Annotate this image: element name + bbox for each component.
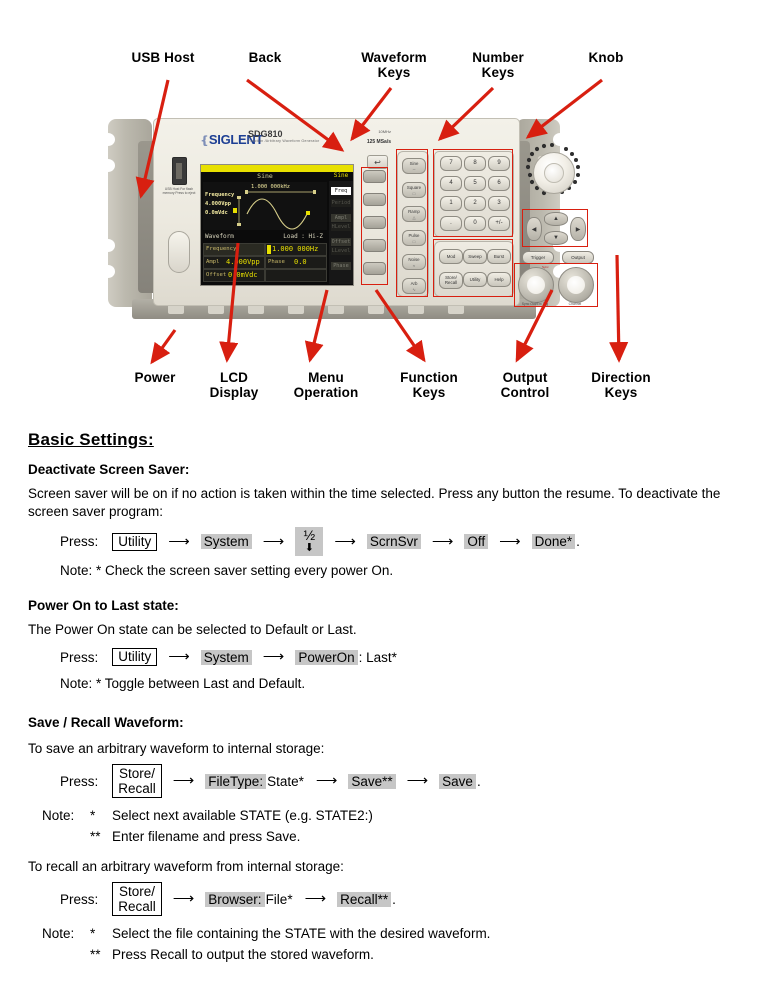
press-label-recall: Press: — [60, 892, 98, 907]
param-ampl-label: Ampl — [206, 259, 219, 265]
step-scrnsvr[interactable]: ScrnSvr — [367, 534, 421, 549]
usb-host-port[interactable] — [172, 157, 187, 185]
step-done[interactable]: Done* — [532, 534, 576, 549]
highlight-waveform-keys — [396, 149, 428, 297]
param-ampl-value: 4.000Vpp — [226, 258, 260, 266]
param-frequency-value: 1.000 000Hz — [272, 245, 318, 253]
step-arrow-icon: ⟶ — [263, 650, 285, 664]
param-offset-value: 0.0mVdc — [228, 271, 258, 279]
step-recall-double[interactable]: Recall** — [337, 892, 391, 907]
step-arrow-icon: ⟶ — [407, 774, 429, 788]
store-line2-r: Recall — [118, 899, 156, 914]
step-arrow-icon: ⟶ — [334, 535, 356, 549]
model-subtitle: Function /Arbitrary Waveform Generator — [248, 139, 319, 143]
note-screen-saver: Note: * Check the screen saver setting e… — [60, 562, 768, 580]
lcd-params-header: Waveform Load : Hi-Z — [203, 232, 327, 242]
press-sequence-power-on: Press: Utility ⟶ System ⟶ PowerOn : Last… — [60, 645, 768, 669]
sample-rate: 125 MSa/s — [351, 139, 391, 145]
store-line2: Recall — [118, 781, 156, 796]
half-page-label: ½ — [303, 527, 315, 543]
highlight-function-keys — [433, 239, 513, 297]
callout-direction-keys: Direction Keys — [574, 370, 668, 400]
softkey-ampl[interactable]: Ampl — [331, 214, 351, 222]
down-arrow-icon: ⬇ — [295, 543, 323, 554]
note-recall-1: Note:*Select the file containing the STA… — [42, 924, 768, 943]
param-cell-empty — [265, 269, 327, 282]
instrument-diagram: USB Host Back Waveform Keys Number Keys … — [0, 0, 768, 430]
lcd-banner-right — [329, 165, 353, 172]
step-arrow-icon: ⟶ — [316, 774, 338, 788]
press-sequence-save: Press: Store/ Recall ⟶ FileType: State* … — [60, 764, 768, 798]
highlight-number-keys — [433, 149, 513, 237]
step-filetype-suffix: State* — [266, 774, 305, 789]
store-line1-r: Store/ — [118, 884, 156, 899]
model-number: SDG810 — [248, 129, 283, 139]
bandwidth-label: 10MHz 125 MSa/s — [351, 129, 391, 145]
lcd-banner — [201, 165, 329, 172]
param-offset-label: Offset — [206, 272, 226, 278]
lcd-display: Sine Sine Frequency 4.000Vpp 0.0mVdc 1.0… — [200, 164, 354, 286]
param-phase-value: 0.0 — [294, 258, 307, 266]
section-title-power-on: Power On to Last state: — [28, 598, 768, 613]
step-filetype[interactable]: FileType: — [205, 774, 266, 789]
callout-knob: Knob — [558, 50, 654, 65]
step-arrow-icon: ⟶ — [263, 535, 285, 549]
callout-number-keys: Number Keys — [448, 50, 548, 80]
front-panel: USB Host For flash memory Press to eject… — [153, 118, 520, 306]
step-recall-suffix: . — [391, 892, 397, 907]
softkey-period[interactable]: Period — [331, 199, 351, 207]
power-button[interactable] — [168, 231, 190, 273]
step-save-suffix: . — [476, 774, 482, 789]
store-line1: Store/ — [118, 766, 156, 781]
step-poweron-suffix: : Last* — [358, 650, 398, 665]
press-sequence-recall: Press: Store/ Recall ⟶ Browser: File* ⟶ … — [60, 882, 768, 916]
step-browser-suffix: File* — [265, 892, 294, 907]
step-arrow-icon: ⟶ — [173, 892, 195, 906]
recall-intro: To recall an arbitrary waveform from int… — [28, 858, 742, 876]
softkey-freq[interactable]: Freq — [331, 187, 351, 195]
softkey-llevel[interactable]: LLevel — [331, 247, 351, 255]
step-save[interactable]: Save — [439, 774, 476, 789]
callout-lcd-display: LCD Display — [192, 370, 276, 400]
param-cell-phase: Phase 0.0 — [265, 256, 327, 269]
callout-power: Power — [110, 370, 200, 385]
note-save-star-2: ** — [90, 827, 112, 846]
step-save-double[interactable]: Save** — [348, 774, 395, 789]
step-done-suffix: . — [575, 534, 581, 549]
step-arrow-icon: ⟶ — [432, 535, 454, 549]
edit-cursor — [267, 245, 271, 254]
step-page-half[interactable]: ½ ⬇ — [295, 527, 323, 556]
step-system-1[interactable]: System — [201, 534, 252, 549]
step-arrow-icon: ⟶ — [499, 535, 521, 549]
section-paragraph-power-on: The Power On state can be selected to De… — [28, 621, 742, 639]
note-recall-text-2: Press Recall to output the stored wavefo… — [112, 947, 374, 962]
params-header-left: Waveform — [205, 233, 234, 240]
note-save-text-2: Enter filename and press Save. — [112, 829, 300, 844]
section-title-screen-saver: Deactivate Screen Saver: — [28, 462, 768, 477]
signal-generator-body: USB Host For flash memory Press to eject… — [108, 105, 560, 330]
lcd-waveform-graph: Frequency 4.000Vpp 0.0mVdc 1.000 000kHz — [203, 182, 327, 230]
highlight-output-control — [514, 263, 598, 307]
highlight-menu-keys — [361, 167, 388, 285]
section-title-save-recall: Save / Recall Waveform: — [28, 715, 768, 730]
document-body: Basic Settings: Deactivate Screen Saver:… — [0, 430, 768, 964]
step-store-recall-save[interactable]: Store/ Recall — [112, 764, 162, 798]
step-utility-1[interactable]: Utility — [112, 533, 157, 551]
step-utility-2[interactable]: Utility — [112, 648, 157, 666]
usb-host-port-label: USB Host For flash memory Press to eject — [162, 187, 196, 195]
page-title: Basic Settings: — [28, 430, 768, 450]
lcd-softkey-column: Freq Period Ampl HLevel Offset LLevel Ph… — [329, 181, 353, 284]
callout-output-control: Output Control — [480, 370, 570, 400]
step-arrow-icon: ⟶ — [168, 650, 190, 664]
lcd-title: Sine — [201, 172, 329, 181]
param-cell-frequency-value: 1.000 000Hz — [265, 243, 327, 256]
note-recall-star-2: ** — [90, 945, 112, 964]
save-intro: To save an arbitrary waveform to interna… — [28, 740, 742, 758]
note-recall-star: * — [90, 924, 112, 943]
note-recall-label: Note: — [42, 924, 90, 943]
step-system-2[interactable]: System — [201, 650, 252, 665]
callout-back: Back — [215, 50, 315, 65]
softkey-phase[interactable]: Phase — [331, 262, 351, 270]
press-sequence-screen-saver: Press: Utility ⟶ System ⟶ ½ ⬇ ⟶ ScrnSvr … — [60, 527, 768, 556]
note-save-text: Select next available STATE (e.g. STATE2… — [112, 808, 373, 823]
note-save-2: **Enter filename and press Save. — [42, 827, 768, 846]
press-label-2: Press: — [60, 650, 98, 665]
lcd-parameter-table: Waveform Load : Hi-Z Frequency 1.000 000… — [203, 232, 327, 283]
sine-trace-icon — [203, 182, 327, 230]
step-arrow-icon: ⟶ — [173, 774, 195, 788]
step-store-recall-recall[interactable]: Store/ Recall — [112, 882, 162, 916]
note-power-on: Note: * Toggle between Last and Default. — [60, 675, 768, 693]
step-poweron[interactable]: PowerOn — [295, 650, 357, 665]
param-frequency-label: Frequency — [206, 246, 236, 252]
press-label-1: Press: — [60, 534, 98, 549]
note-save-1: Note:*Select next available STATE (e.g. … — [42, 806, 768, 825]
callout-function-keys: Function Keys — [382, 370, 476, 400]
softkey-hlevel[interactable]: HLevel — [331, 223, 351, 231]
note-recall-text: Select the file containing the STATE wit… — [112, 926, 490, 941]
bandwidth-top: 10MHz — [378, 129, 391, 134]
softkey-offset[interactable]: Offset — [331, 238, 351, 246]
callout-waveform-keys: Waveform Keys — [340, 50, 448, 80]
callout-usb-host: USB Host — [108, 50, 218, 65]
note-save-label: Note: — [42, 806, 90, 825]
step-arrow-icon: ⟶ — [305, 892, 327, 906]
param-cell-frequency: Frequency — [203, 243, 265, 256]
note-save-star: * — [90, 806, 112, 825]
step-off[interactable]: Off — [464, 534, 488, 549]
highlight-direction-keys — [522, 209, 588, 247]
param-cell-offset: Offset 0.0mVdc — [203, 269, 265, 282]
lcd-softmenu-title: Sine — [329, 172, 353, 181]
section-paragraph-screen-saver: Screen saver will be on if no action is … — [28, 485, 742, 521]
callout-menu-operation: Menu Operation — [277, 370, 375, 400]
step-arrow-icon: ⟶ — [168, 535, 190, 549]
param-phase-label: Phase — [268, 259, 285, 265]
press-label-save: Press: — [60, 774, 98, 789]
rotary-knob[interactable] — [522, 143, 584, 205]
params-header-right: Load : Hi-Z — [283, 233, 323, 240]
param-cell-ampl: Ampl 4.000Vpp — [203, 256, 265, 269]
note-recall-2: **Press Recall to output the stored wave… — [42, 945, 768, 964]
step-browser[interactable]: Browser: — [205, 892, 264, 907]
back-icon: ↩ — [374, 158, 381, 167]
knob-hub — [544, 163, 564, 183]
